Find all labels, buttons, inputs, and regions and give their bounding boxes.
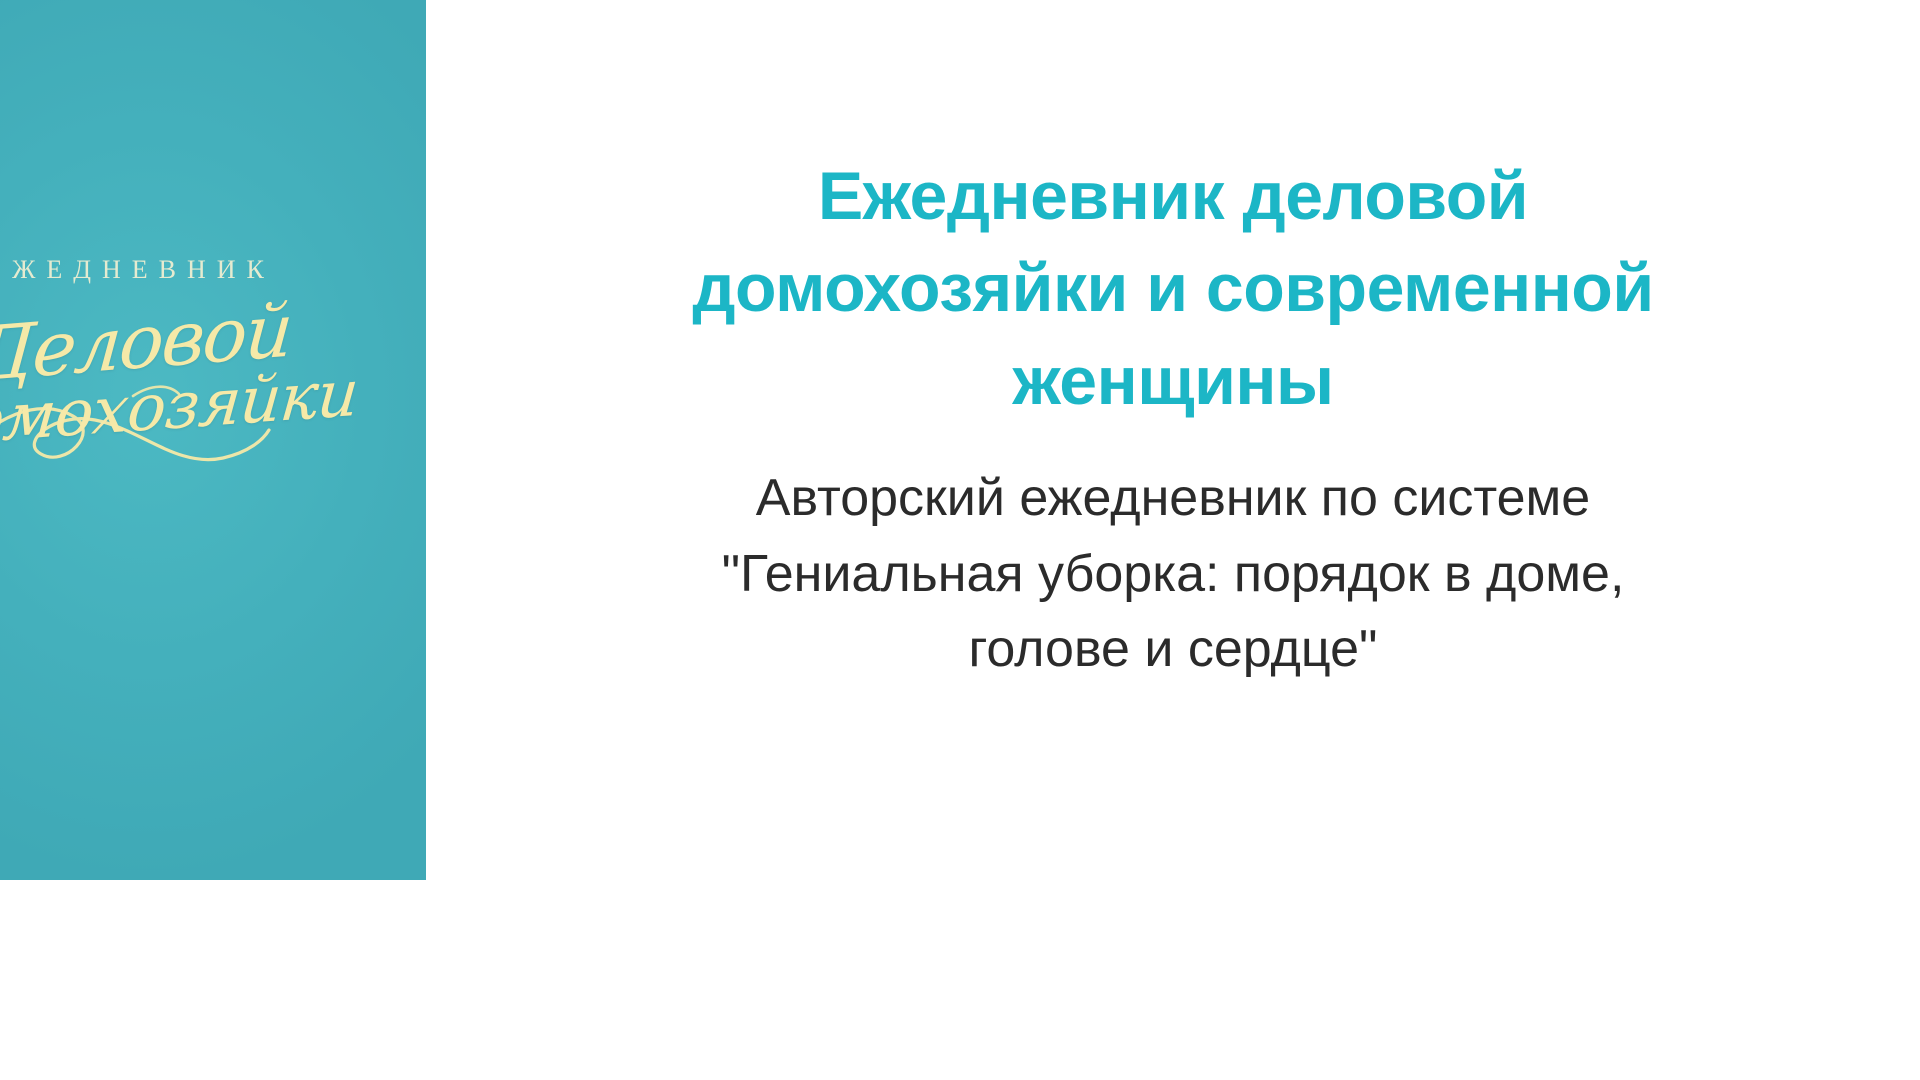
cover-script-title: Деловой домохозяйки (0, 300, 426, 446)
page-title-line-3: женщины (393, 335, 1920, 427)
product-page: ЖЕДНЕВНИК Деловой домохозяйки Ежедневник… (0, 0, 1920, 1080)
page-subtitle: Авторский ежедневник по системе "Гениаль… (393, 427, 1920, 687)
text-block: Ежедневник деловой домохозяйки и совреме… (393, 0, 1920, 688)
page-title-line-2: домохозяйки и современной (393, 242, 1920, 334)
product-cover-image[interactable]: ЖЕДНЕВНИК Деловой домохозяйки (0, 0, 426, 880)
page-subtitle-line-2: "Гениальная уборка: порядок в доме, (393, 537, 1920, 612)
cover-artwork: ЖЕДНЕВНИК Деловой домохозяйки (0, 0, 426, 880)
page-subtitle-line-3: голове и сердце" (393, 612, 1920, 687)
page-subtitle-line-1: Авторский ежедневник по системе (393, 461, 1920, 536)
product-text-column: Ежедневник деловой домохозяйки и совреме… (426, 0, 1920, 880)
page-title-line-1: Ежедневник деловой (393, 150, 1920, 242)
page-bottom-area (0, 880, 1920, 1080)
cover-kicker-text: ЖЕДНЕВНИК (0, 255, 426, 285)
page-title: Ежедневник деловой домохозяйки и совреме… (393, 0, 1920, 427)
